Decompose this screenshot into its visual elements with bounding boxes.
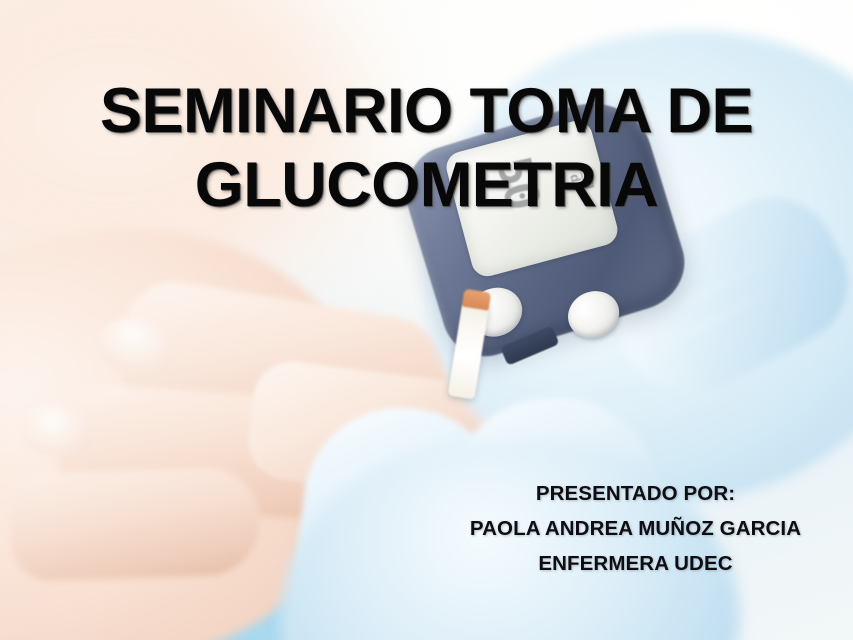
patient-finger-ring	[8, 466, 262, 583]
credit-author-name: PAOLA ANDREA MUÑOZ GARCIA	[440, 511, 831, 546]
glucometer-reading-unit: mg dL	[567, 168, 598, 193]
slide-credits: PRESENTADO POR: PAOLA ANDREA MUÑOZ GARCI…	[440, 476, 831, 581]
glucometer-reading-value: 50	[486, 151, 550, 213]
test-strip-tip	[462, 289, 491, 311]
credit-author-affiliation: ENFERMERA UDEC	[440, 546, 831, 581]
presentation-title-slide: 50 mg dL SEMINARIO TOMA DE GLUCOMETRIA P…	[0, 0, 853, 640]
credit-presented-by-label: PRESENTADO POR:	[440, 476, 831, 511]
